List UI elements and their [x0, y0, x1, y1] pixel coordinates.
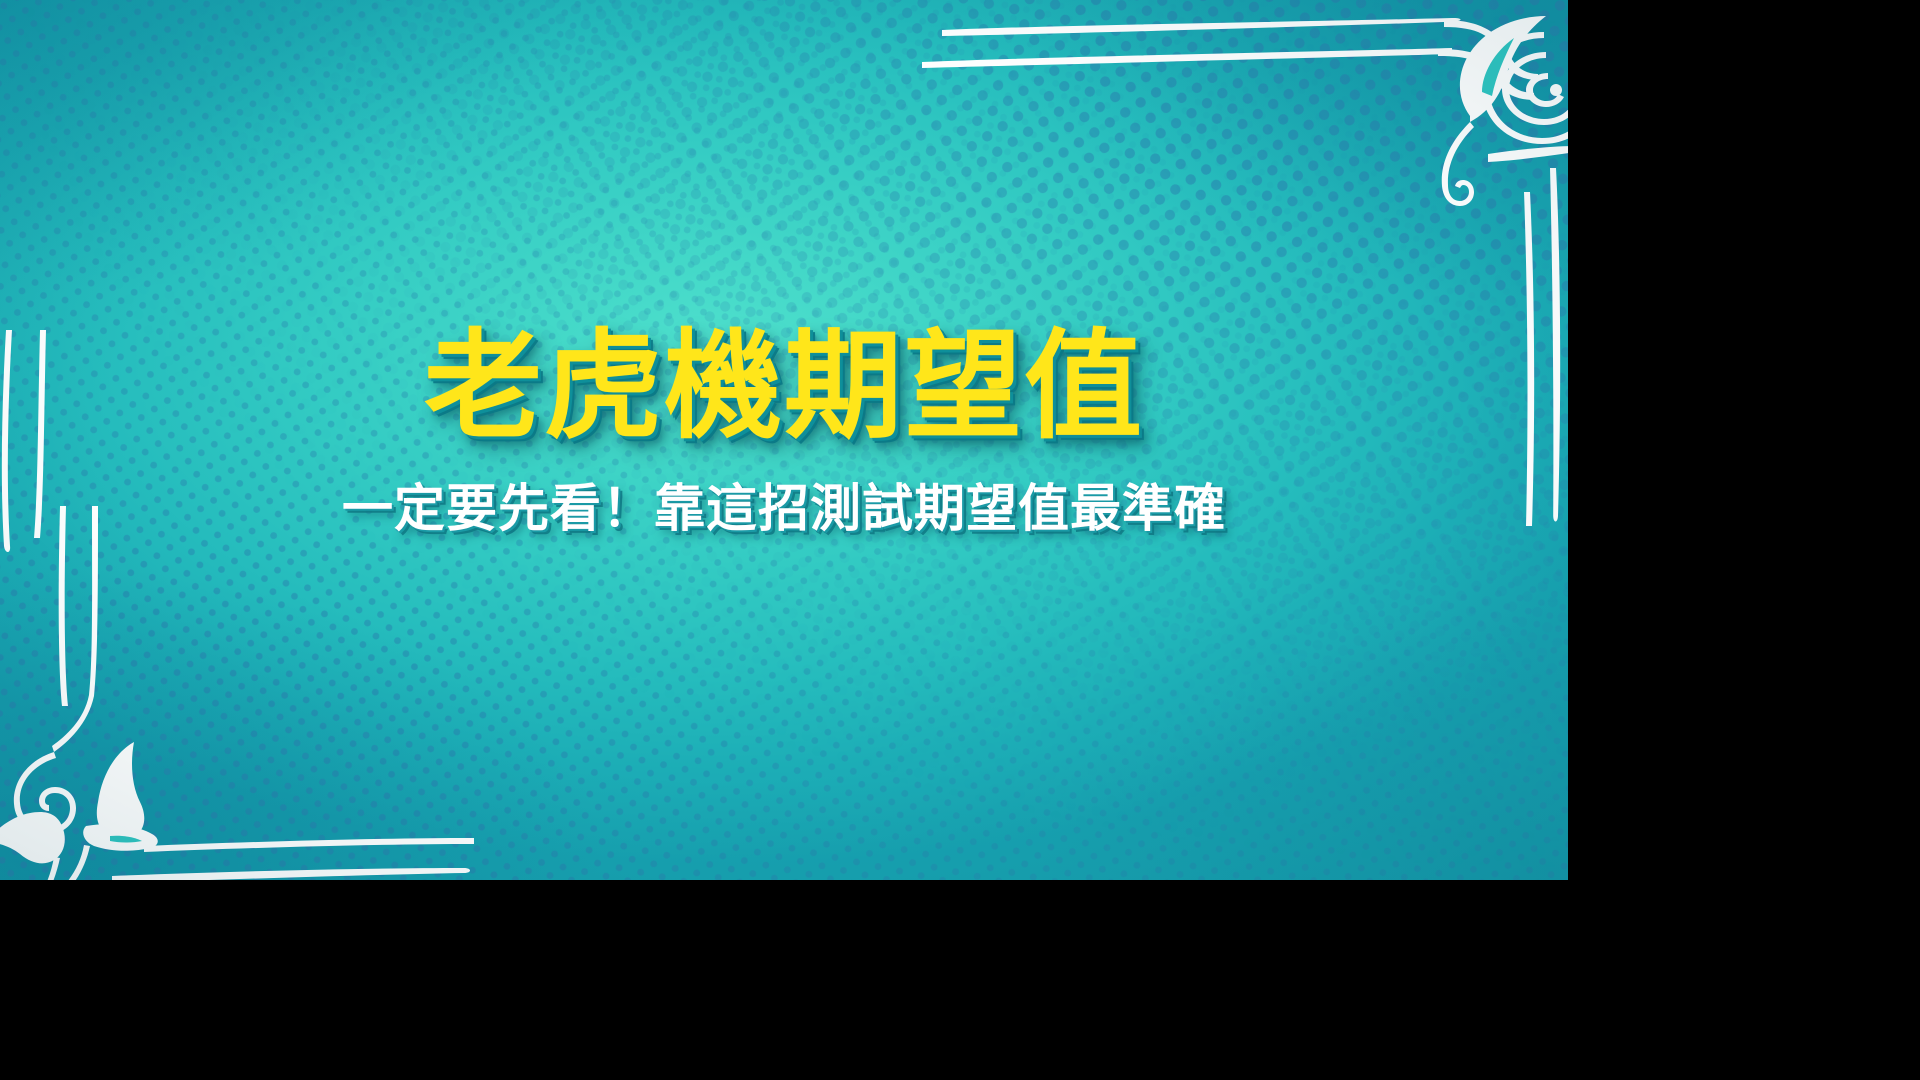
text-content-block: 老虎機期望值 一定要先看！靠這招測試期望值最準確 — [0, 0, 1568, 880]
slide-canvas: 老虎機期望值 一定要先看！靠這招測試期望值最準確 — [0, 0, 1568, 880]
page-subtitle: 一定要先看！靠這招測試期望值最準確 — [342, 478, 1226, 539]
page-title: 老虎機期望值 — [424, 325, 1144, 450]
